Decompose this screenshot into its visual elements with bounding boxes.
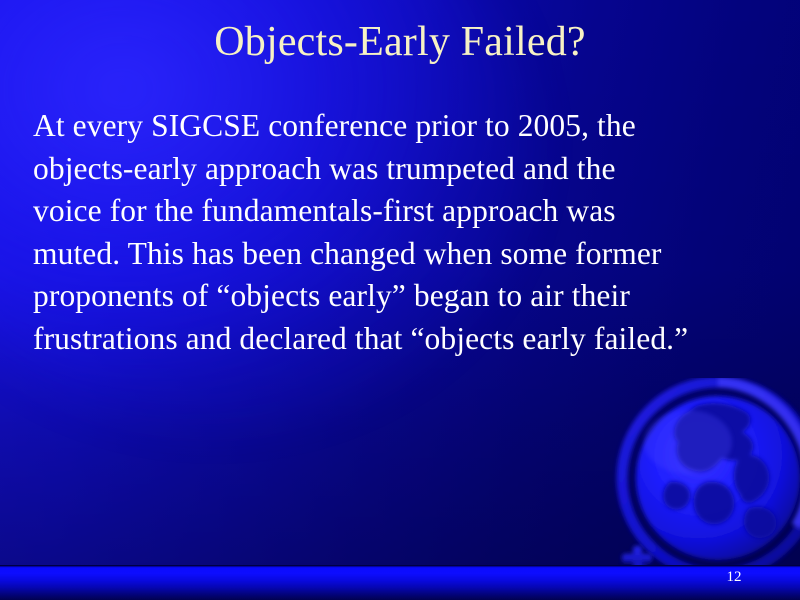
slide-title: Objects-Early Failed? (0, 20, 800, 65)
slide-body: At every SIGCSE conference prior to 2005… (33, 105, 781, 360)
footer-band (0, 566, 800, 600)
body-line: objects-early approach was trumpeted and… (33, 148, 781, 191)
body-line: At every SIGCSE conference prior to 2005… (33, 105, 781, 148)
body-line: voice for the fundamentals-first approac… (33, 190, 781, 233)
body-line: frustrations and declared that “objects … (33, 318, 781, 361)
body-line: proponents of “objects early” began to a… (33, 275, 781, 318)
body-line: muted. This has been changed when some f… (33, 233, 781, 276)
presentation-slide: Objects-Early Failed? At every SIGCSE co… (0, 0, 800, 600)
page-number: 12 (714, 568, 754, 586)
